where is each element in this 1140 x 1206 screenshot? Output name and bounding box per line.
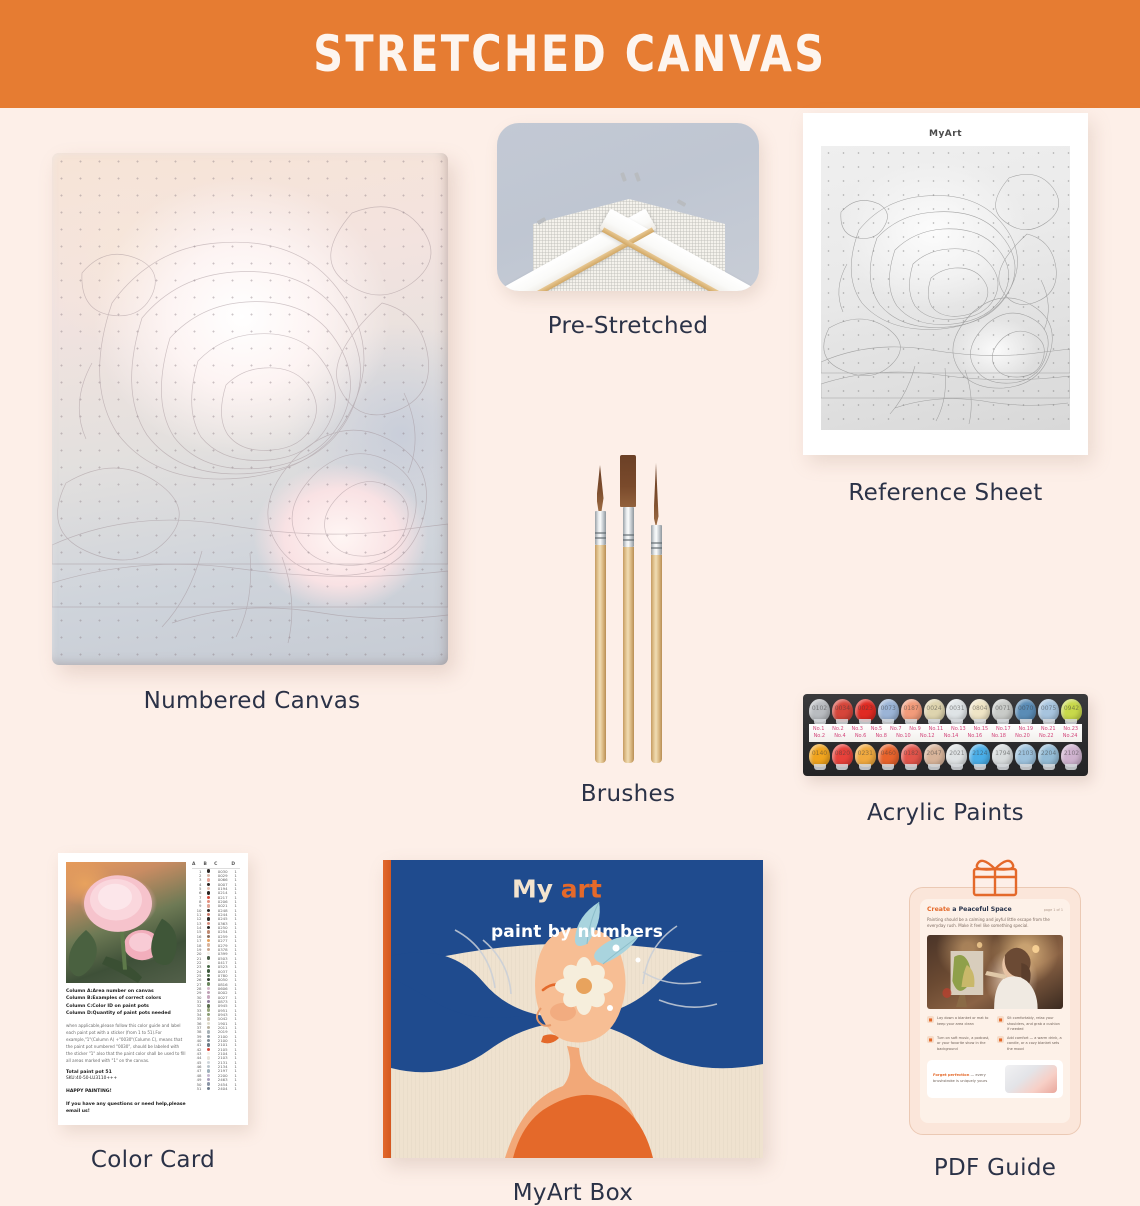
cell-color-swatch [204,891,215,894]
cell-color-swatch [204,1030,215,1033]
product-reference-sheet[interactable]: MyArt [803,113,1088,506]
cell-color-swatch [204,1043,215,1046]
legend-c: Column C:Color ID on paint pots [66,1003,186,1010]
brush-handle [651,555,662,763]
pdf-tips-list: ■Lay down a blanket or mat to keep your … [927,1016,1063,1052]
pdf-note-thumbnail [1005,1065,1057,1093]
paint-pot: 0140 [809,744,830,767]
brush-bristles-icon [654,463,659,525]
myart-box-image: My art paint by numbers [383,860,763,1158]
cell-color-swatch [204,917,215,920]
cell-color-swatch [204,956,215,959]
cell-color-swatch [204,991,215,994]
cell-color-swatch [204,1061,215,1064]
pdf-tip-text: Lay down a blanket or mat to keep your a… [937,1016,992,1032]
cell-color-swatch [204,948,215,951]
paint-label-id: No.19 [1018,726,1033,732]
paint-label-id: No.22 [1039,733,1054,739]
cell-color-swatch [204,1013,215,1016]
caption-brushes: Brushes [500,781,756,807]
product-acrylic-paints[interactable]: 0102003400230073018700240031080400710070… [803,694,1088,826]
cell-color-swatch [204,1082,215,1085]
paint-pot: 2021 [946,744,967,767]
cell-color-swatch [204,900,215,903]
cell-color-swatch [204,913,215,916]
paint-pot-code: 0460 [878,750,899,757]
paint-label-id: No.24 [1063,733,1078,739]
cell-color-swatch [204,939,215,942]
myart-logo: My art [512,876,642,905]
contact-note: If you have any questions or need help,p… [66,1101,186,1116]
gift-icon-wrap [900,853,1090,885]
brush-ferrule [623,507,634,547]
legend-b: Column B:Examples of correct colors [66,995,186,1002]
brushes-image [500,463,756,763]
paint-label-id: No.16 [968,733,983,739]
paint-label-id: No.2 [814,733,825,739]
brush-handle [595,545,606,763]
product-numbered-canvas[interactable]: Numbered Canvas [52,153,452,714]
paint-pot: 0024 [924,699,945,722]
pdf-tip-item: ■Sit comfortably, relax your shoulders, … [997,1016,1062,1032]
cell-color-swatch [204,965,215,968]
paint-pot: 0820 [832,744,853,767]
paint-pot-code: 0820 [832,750,853,757]
pdf-tip-icon: ■ [997,1016,1004,1023]
paint-pot: 0031 [946,699,967,722]
paint-label-id: No.13 [951,726,966,732]
col-a-header: A [192,862,204,867]
paint-pot-row-top: 0102003400230073018700240031080400710070… [809,699,1082,722]
cell-color-swatch [204,935,215,938]
pdf-callout-note: Forget perfection — every brushstroke is… [927,1060,1063,1098]
cell-color-swatch [204,995,215,998]
paint-pot-code: 0102 [809,705,830,712]
col-d-header: D [231,862,240,867]
paint-pot-code: 2124 [969,750,990,757]
product-pre-stretched[interactable]: Pre-Stretched [497,123,759,339]
brush-bristles-icon [597,465,604,511]
paint-label-id: No.1 [813,726,824,732]
brush-bristles-icon [620,455,636,507]
pdf-tip-text: Turn on soft music, a podcast, or your f… [937,1036,992,1052]
cell-color-swatch [204,1065,215,1068]
color-card-sheet: Column A:Area number on canvas Column B:… [58,853,248,1125]
paint-pot: 2103 [1015,744,1036,767]
paint-pot-code: 0024 [924,705,945,712]
cell-color-swatch [204,1017,215,1020]
product-grid: Numbered Canvas Pre-Stretched MyArt [0,108,1140,1140]
paint-label-id: No.18 [991,733,1006,739]
paint-pot-code: 0804 [969,705,990,712]
paint-pot: 0073 [878,699,899,722]
paint-label-id: No.3 [851,726,862,732]
cell-color-swatch [204,1000,215,1003]
paint-pot: 0023 [855,699,876,722]
paint-pot-code: 1794 [992,750,1013,757]
box-spine [383,860,391,1158]
cell-color-swatch [204,904,215,907]
box-subtitle: paint by numbers [391,922,763,942]
color-card-table: A B C D 10030120029130066140007150194160… [192,862,240,1116]
product-myart-box[interactable]: My art paint by numbers MyArt Box [383,860,763,1206]
color-table-body: 1003012002913006614000715019416021417021… [192,869,240,1091]
pdf-page-number: page 1 of 1 [1044,908,1063,912]
cell-quantity: 1 [231,1086,240,1091]
box-front-face: My art paint by numbers [391,860,763,1158]
paint-pot: 0070 [1015,699,1036,722]
paint-label-ids-row2: No.2No.4No.6No.8No.10No.12No.14No.16No.1… [809,732,1082,740]
brush-ferrule [651,525,662,555]
reference-number-dots [821,146,1070,430]
caption-pdf-guide: PDF Guide [900,1155,1090,1181]
paint-pot-code: 0073 [878,705,899,712]
paint-pot: 0231 [855,744,876,767]
brush-flat [623,455,634,763]
paint-pot: 0071 [992,699,1013,722]
cell-color-swatch [204,1026,215,1029]
staple-icon [677,199,687,207]
pdf-tip-text: Add comfort — a warm drink, a candle, or… [1007,1036,1062,1052]
pdf-tip-item: ■Add comfort — a warm drink, a candle, o… [997,1036,1062,1052]
staple-icon [634,172,641,182]
paint-pot: 0182 [901,744,922,767]
caption-reference-sheet: Reference Sheet [803,480,1088,506]
paint-pot: 0942 [1061,699,1082,722]
legend-d: Column D:Quantity of paint pots needed [66,1010,186,1017]
cell-color-swatch [204,961,215,964]
brush-ferrule [595,511,606,545]
paint-label-id: No.8 [875,733,886,739]
paint-label-id: No.7 [890,726,901,732]
color-card-instructions: Column A:Area number on canvas Column B:… [66,988,186,1116]
brush-liner [651,463,662,763]
pdf-tip-text: Sit comfortably, relax your shoulders, a… [1007,1016,1062,1032]
pdf-note-text: Forget perfection — every brushstroke is… [933,1073,1000,1084]
paint-label-id: No.21 [1041,726,1056,732]
svg-text:art: art [561,876,602,904]
pbn-number-dots [52,153,448,665]
cell-color-swatch [204,883,215,886]
cell-color-swatch [204,1008,215,1011]
cell-color-swatch [204,869,215,872]
legend-a: Column A:Area number on canvas [66,988,186,995]
pdf-tip-item: ■Turn on soft music, a podcast, or your … [927,1036,992,1052]
peony-photo-shapes [66,862,186,983]
cell-color-swatch [204,952,215,955]
cell-color-swatch [204,987,215,990]
col-c-header: C [214,862,231,867]
page-title: STRETCHED CANVAS [313,25,826,83]
paint-pot: 0034 [832,699,853,722]
cell-color-swatch [204,1022,215,1025]
color-card-note: when applicable,please follow this color… [66,1022,186,1064]
paint-label-id: No.23 [1063,726,1078,732]
paint-pot-code: 0031 [946,705,967,712]
cell-color-swatch [204,878,215,881]
cell-color-swatch [204,874,215,877]
gift-icon [969,853,1021,897]
staple-icon [620,172,627,182]
paint-pot-code: 2021 [946,750,967,757]
cell-color-swatch [204,1039,215,1042]
reference-sheet-logo: MyArt [821,129,1070,139]
cell-color-swatch [204,1052,215,1055]
pdf-title: Create a Peaceful Space [927,906,1012,913]
brush-round-small [595,465,606,763]
cell-color-swatch [204,930,215,933]
happy-painting: HAPPY PAINTING! [66,1088,186,1096]
paint-pot-row-bottom: 0140082002310460018220472021212417942103… [809,744,1082,767]
paint-pot: 0460 [878,744,899,767]
paint-label-id: No.15 [974,726,989,732]
paint-pot-code: 2204 [1038,750,1059,757]
cell-area-number: 51 [192,1086,204,1091]
paint-pot: 0804 [969,699,990,722]
pdf-tip-item: ■Lay down a blanket or mat to keep your … [927,1016,992,1032]
pdf-guide-page: Create a Peaceful Space page 1 of 1 Pain… [909,887,1081,1135]
cell-color-swatch [204,926,215,929]
paint-tray-label-strip: No.1No.2No.3No.5No.7No.9No.11No.13No.15N… [809,724,1082,742]
paint-label-id: No.20 [1015,733,1030,739]
cell-color-swatch [204,887,215,890]
pdf-note-bold: Forget perfection [933,1073,969,1077]
cell-color-swatch [204,1056,215,1059]
cell-color-swatch [204,909,215,912]
paint-label-ids-row1: No.1No.2No.3No.5No.7No.9No.11No.13No.15N… [809,724,1082,732]
cell-color-swatch [204,943,215,946]
product-color-card[interactable]: Column A:Area number on canvas Column B:… [58,853,248,1173]
paint-pot-code: 0140 [809,750,830,757]
pre-stretched-image [497,123,759,291]
cell-color-swatch [204,974,215,977]
pdf-tip-icon: ■ [927,1016,934,1023]
reference-sheet-artwork [821,146,1070,430]
paint-pot-code: 0023 [855,705,876,712]
brush-handle [623,547,634,763]
paint-label-id: No.17 [996,726,1011,732]
paint-pot-code: 0075 [1038,705,1059,712]
cell-color-swatch [204,1078,215,1081]
caption-numbered-canvas: Numbered Canvas [52,688,452,714]
cell-color-swatch [204,1004,215,1007]
paint-pot: 2102 [1061,744,1082,767]
cell-color-id: 2404 [214,1086,231,1091]
color-card-reference-photo [66,862,186,983]
paint-pot-code: 0231 [855,750,876,757]
paint-label-id: No.4 [834,733,845,739]
paint-pot: 2047 [924,744,945,767]
paint-pot: 1794 [992,744,1013,767]
paint-label-id: No.9 [909,726,920,732]
paint-pot: 0075 [1038,699,1059,722]
paint-pot: 0102 [809,699,830,722]
caption-pre-stretched: Pre-Stretched [497,313,759,339]
pdf-title-accent: Create [927,906,950,913]
svg-text:My: My [512,876,553,904]
product-pdf-guide[interactable]: Create a Peaceful Space page 1 of 1 Pain… [900,853,1090,1181]
cell-color-swatch [204,922,215,925]
pdf-tip-icon: ■ [927,1036,934,1043]
paint-pot-code: 0942 [1061,705,1082,712]
pdf-subtitle: Painting should be a calming and joyful … [927,917,1063,929]
paint-pot: 2204 [1038,744,1059,767]
caption-color-card: Color Card [58,1147,248,1173]
paint-pot: 2124 [969,744,990,767]
page-header: STRETCHED CANVAS [0,0,1140,108]
paint-pot: 0187 [901,699,922,722]
paint-pot-code: 2103 [1015,750,1036,757]
pdf-photo-woman-painting [927,935,1063,1009]
paint-label-id: No.11 [929,726,944,732]
product-brushes[interactable]: Brushes [500,463,756,807]
paint-pot-code: 0071 [992,705,1013,712]
paint-tray: 0102003400230073018700240031080400710070… [803,694,1088,776]
paint-label-id: No.2 [832,726,843,732]
pdf-tip-icon: ■ [997,1036,1004,1043]
pdf-guide-content: Create a Peaceful Space page 1 of 1 Pain… [920,899,1070,1123]
cell-color-swatch [204,969,215,972]
paint-pot-code: 0070 [1015,705,1036,712]
paint-pot-code: 2047 [924,750,945,757]
pdf-title-rest: a Peaceful Space [950,906,1012,913]
paint-pot-code: 2102 [1061,750,1082,757]
pdf-heading-row: Create a Peaceful Space page 1 of 1 [927,906,1063,913]
cell-color-swatch [204,1069,215,1072]
reference-sheet-paper: MyArt [803,113,1088,455]
paint-label-id: No.12 [920,733,935,739]
paint-pot-code: 0034 [832,705,853,712]
cell-color-swatch [204,1087,215,1090]
paint-label-id: No.6 [855,733,866,739]
col-b-header: B [204,862,215,867]
numbered-canvas-image [52,153,448,665]
cell-color-swatch [204,896,215,899]
paint-pot-code: 0187 [901,705,922,712]
color-table-row: 5124041 [192,1086,240,1090]
sku-code: SKU:40-50-LU3110+++ [66,1076,186,1083]
caption-myart-box: MyArt Box [383,1180,763,1206]
color-card-left-column: Column A:Area number on canvas Column B:… [66,862,186,1116]
cell-color-swatch [204,982,215,985]
paint-label-id: No.5 [871,726,882,732]
cell-color-swatch [204,978,215,981]
paint-pot-code: 0182 [901,750,922,757]
cell-color-swatch [204,1074,215,1077]
caption-acrylic-paints: Acrylic Paints [803,800,1088,826]
paint-label-id: No.14 [944,733,959,739]
paint-label-id: No.10 [896,733,911,739]
cell-color-swatch [204,1035,215,1038]
cell-color-swatch [204,1048,215,1051]
